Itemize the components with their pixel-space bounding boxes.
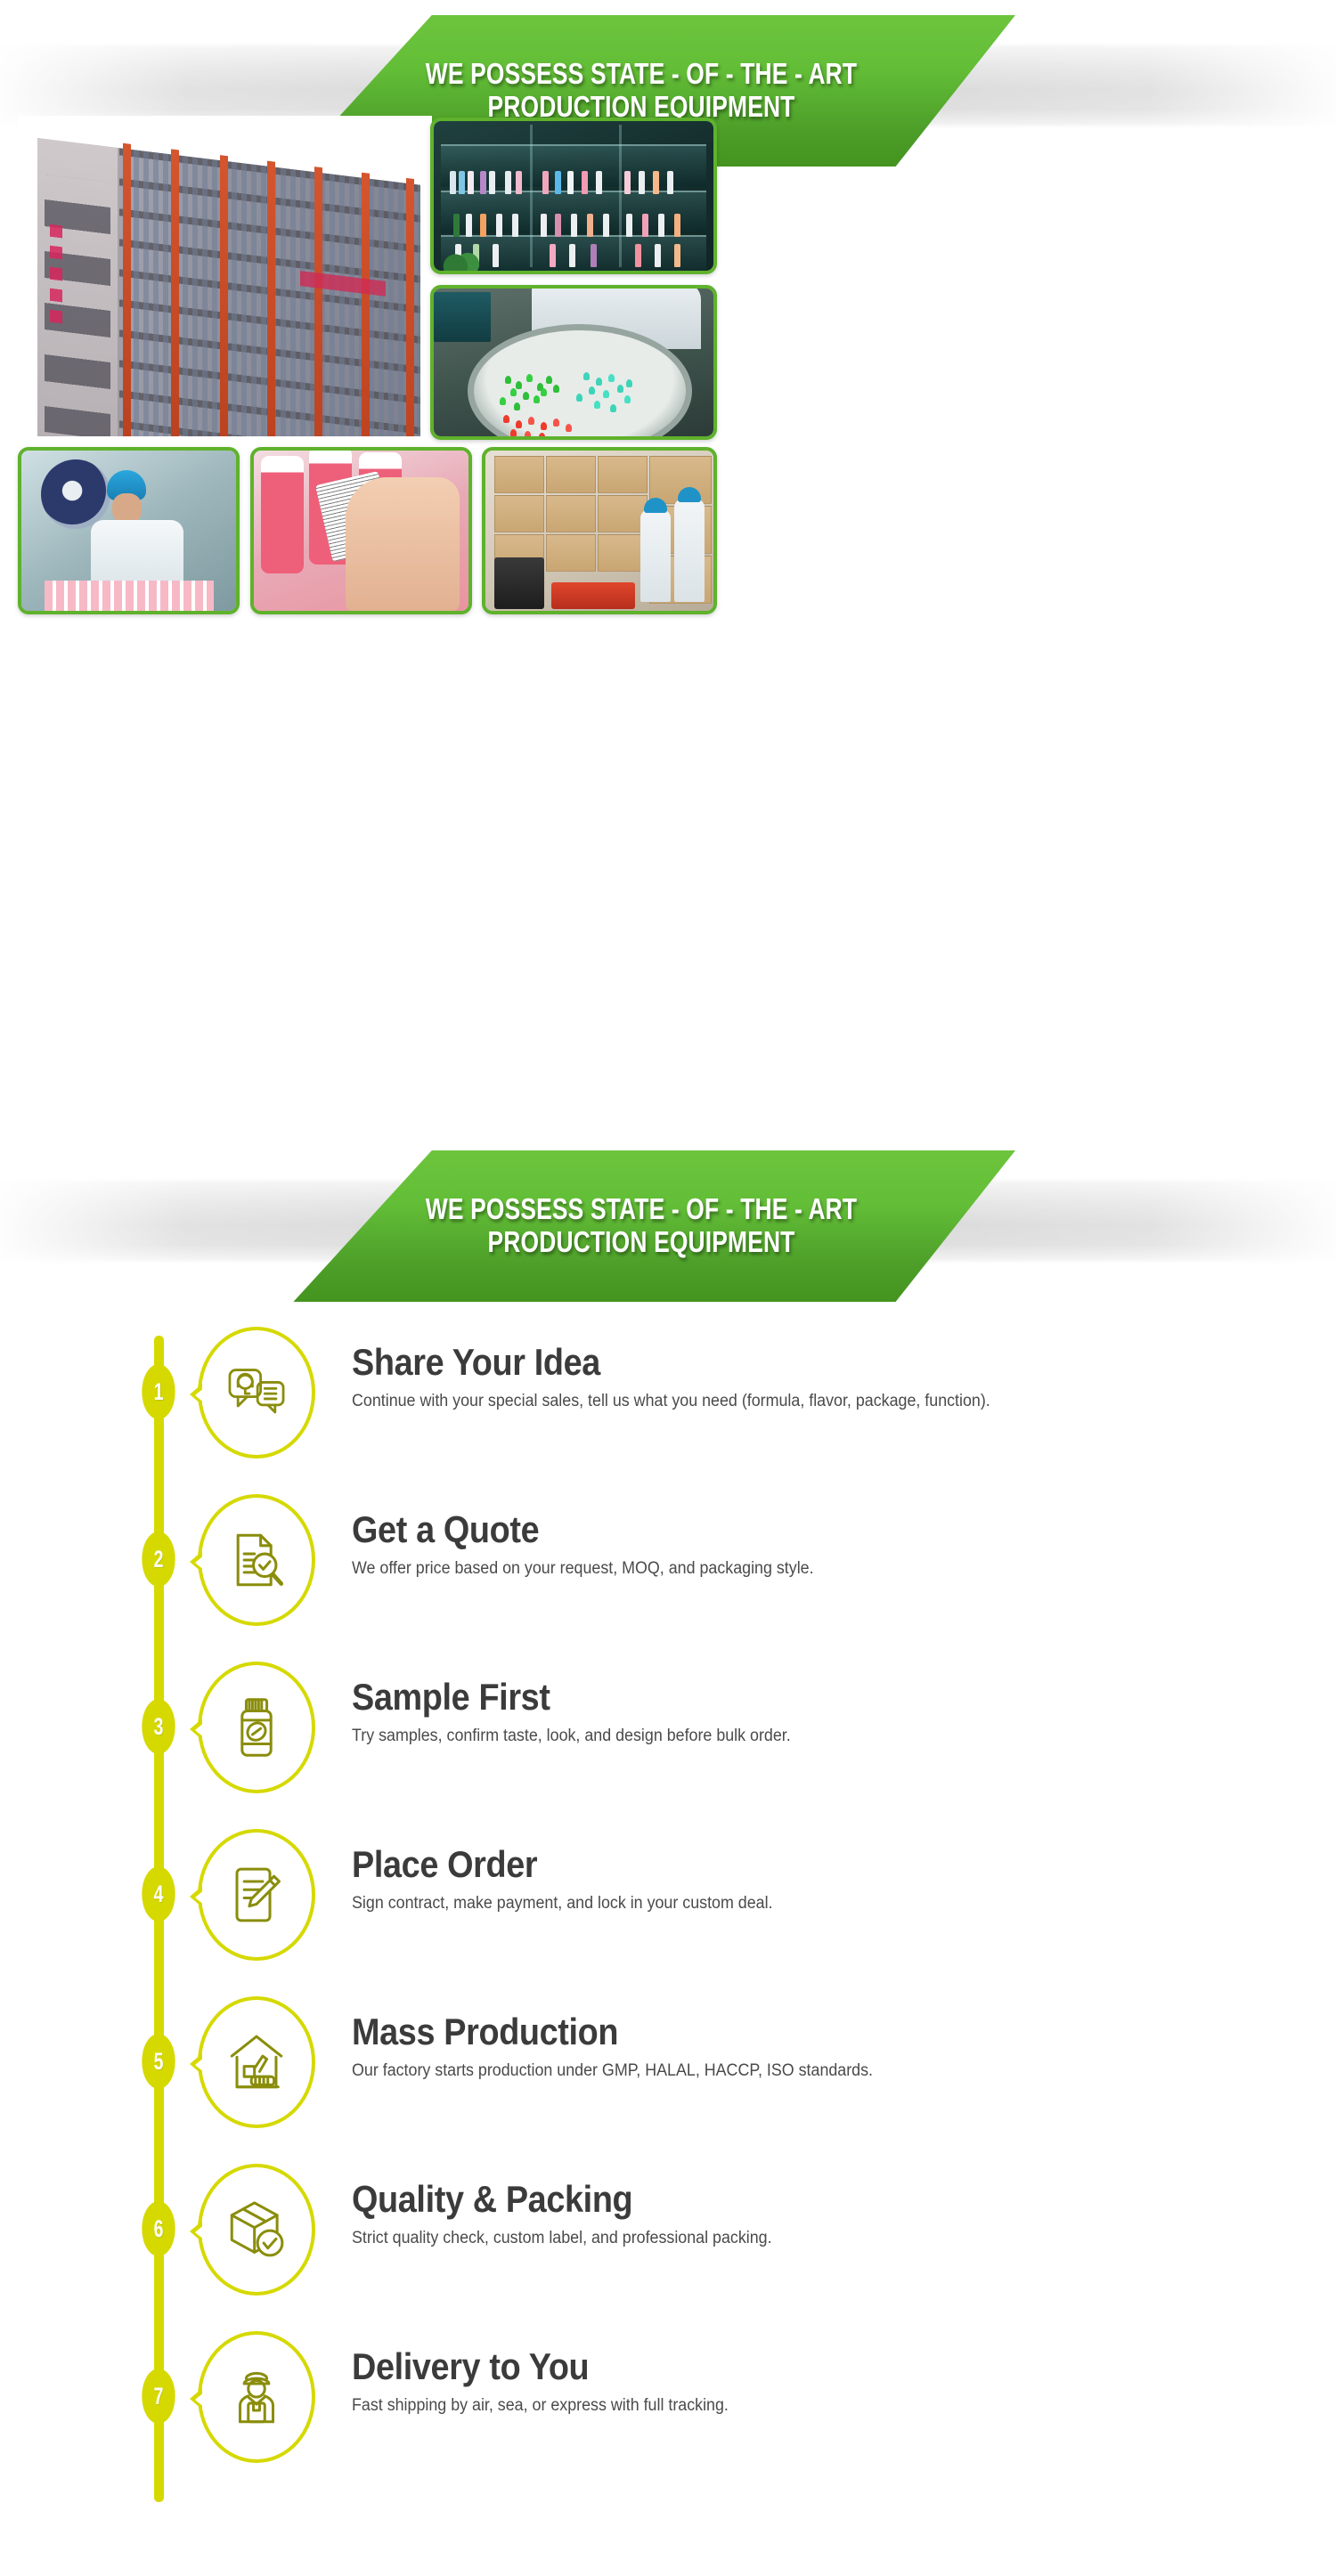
step-icon-ring	[198, 1996, 315, 2128]
step-description: Try samples, confirm taste, look, and de…	[352, 1726, 1239, 1748]
step-text: Delivery to You Fast shipping by air, se…	[352, 2347, 1296, 2417]
warehouse-photo	[482, 447, 717, 614]
step-text: Get a Quote We offer price based on your…	[352, 1510, 1296, 1580]
step-item: 2 Get a Quote We offer price based on yo…	[0, 1476, 1336, 1644]
step-item: 7 Delivery to You F	[0, 2313, 1336, 2481]
factory-building-photo	[18, 116, 432, 436]
banner-green-shape	[267, 1150, 1015, 1302]
step-number-badge: 6	[142, 2201, 175, 2256]
contract-pen-icon	[201, 1832, 312, 1957]
step-number-badge: 1	[142, 1364, 175, 1419]
factory-machine-icon	[201, 2000, 312, 2125]
step-icon-ring	[198, 1829, 315, 1961]
step-description: Sign contract, make payment, and lock in…	[352, 1893, 1239, 1915]
step-icon-ring	[198, 1662, 315, 1793]
step-title: Share Your Idea	[352, 1343, 1202, 1383]
step-number-badge: 4	[142, 1866, 175, 1922]
step-text: Mass Production Our factory starts produ…	[352, 2012, 1296, 2082]
label-inspection-photo	[250, 447, 472, 614]
step-title: Get a Quote	[352, 1510, 1202, 1550]
bottom-banner: WE POSSESS STATE - OF - THE - ART PRODUC…	[0, 1135, 1336, 1304]
step-number-badge: 2	[142, 1532, 175, 1587]
box-check-icon	[201, 2167, 312, 2292]
delivery-courier-icon	[201, 2335, 312, 2459]
step-icon-ring	[198, 1327, 315, 1459]
chat-support-icon	[201, 1330, 312, 1455]
infographic-page: WE POSSESS STATE - OF - THE - ART PRODUC…	[0, 0, 1336, 2576]
step-item: 3 Sample First Try samples, confirm tast…	[0, 1644, 1336, 1811]
step-description: Continue with your special sales, tell u…	[352, 1391, 1239, 1413]
step-text: Place Order Sign contract, make payment,…	[352, 1845, 1296, 1914]
step-description: Strict quality check, custom label, and …	[352, 2228, 1239, 2250]
step-number-badge: 3	[142, 1699, 175, 1754]
step-title: Delivery to You	[352, 2347, 1202, 2387]
step-item: 6 Quality & Packing Strict quality check…	[0, 2146, 1336, 2313]
process-steps-list: 1 Share Your I	[0, 1309, 1336, 2481]
step-icon-ring	[198, 2331, 315, 2463]
step-text: Share Your Idea Continue with your speci…	[352, 1343, 1296, 1412]
step-item: 4 Place Order Sign contract, make paymen…	[0, 1811, 1336, 1979]
step-icon-ring	[198, 2164, 315, 2296]
document-search-icon	[201, 1498, 312, 1622]
gummy-coating-pan-photo	[430, 285, 717, 440]
step-number-badge: 7	[142, 2369, 175, 2424]
step-title: Sample First	[352, 1678, 1202, 1718]
step-description: We offer price based on your request, MO…	[352, 1558, 1239, 1581]
supplement-bottle-icon	[201, 1665, 312, 1790]
step-text: Quality & Packing Strict quality check, …	[352, 2180, 1296, 2249]
step-text: Sample First Try samples, confirm taste,…	[352, 1678, 1296, 1747]
step-number-badge: 5	[142, 2034, 175, 2089]
step-title: Mass Production	[352, 2012, 1202, 2052]
step-icon-ring	[198, 1494, 315, 1626]
step-item: 1 Share Your I	[0, 1309, 1336, 1476]
product-shelf-photo	[430, 118, 717, 274]
step-item: 5 Mass Production Our factory st	[0, 1979, 1336, 2146]
step-description: Fast shipping by air, sea, or express wi…	[352, 2395, 1239, 2418]
step-description: Our factory starts production under GMP,…	[352, 2060, 1239, 2083]
step-title: Quality & Packing	[352, 2180, 1202, 2220]
production-line-photo	[18, 447, 240, 614]
step-title: Place Order	[352, 1845, 1202, 1885]
